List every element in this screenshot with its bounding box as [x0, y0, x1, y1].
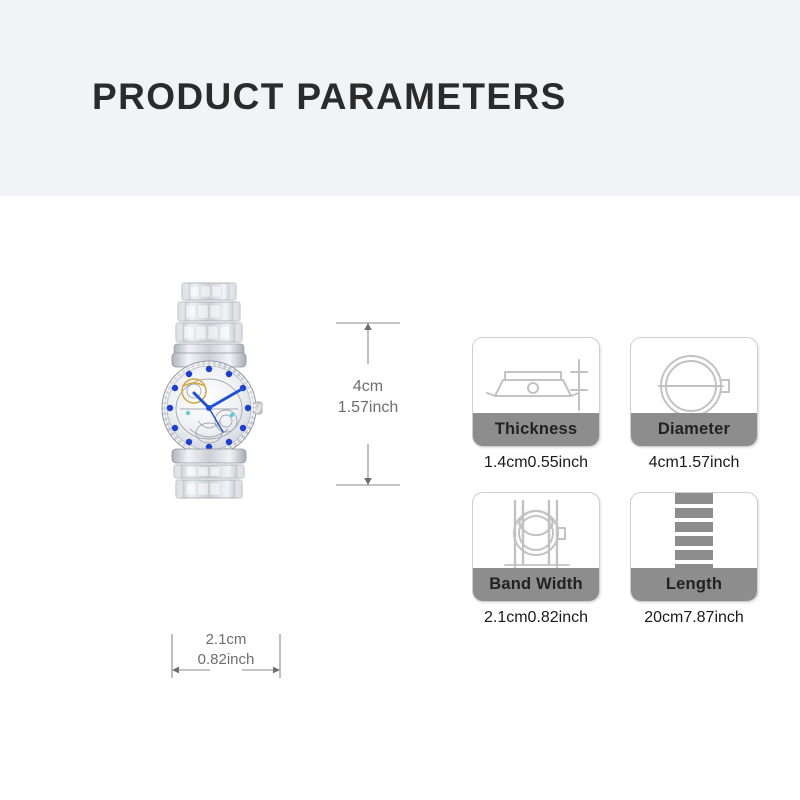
spec-cell-diameter: Diameter 4cm1.57inch — [630, 337, 758, 472]
case-height-inch: 1.57inch — [312, 397, 424, 418]
page-title: PRODUCT PARAMETERS — [92, 76, 567, 118]
spec-caption-band-width: 2.1cm0.82inch — [472, 609, 600, 627]
spec-label-band-width: Band Width — [473, 568, 599, 601]
spec-label-length: Length — [631, 568, 757, 601]
case-height-cm: 4cm — [312, 376, 424, 397]
case-height-label: 4cm 1.57inch — [312, 376, 424, 418]
spec-label-thickness: Thickness — [473, 413, 599, 446]
spec-card-band-width[interactable]: Band Width — [472, 492, 600, 602]
spec-cell-thickness: Thickness 1.4cm0.55inch — [472, 337, 600, 472]
spec-card-length[interactable]: Length — [630, 492, 758, 602]
band-width-inch: 0.82inch — [160, 650, 292, 670]
spec-label-diameter: Diameter — [631, 413, 757, 446]
content-area: 4cm 1.57inch 2.1cm 0.82inch — [0, 196, 800, 800]
spec-card-thickness[interactable]: Thickness — [472, 337, 600, 447]
band-width-cm: 2.1cm — [160, 630, 292, 650]
spec-card-diameter[interactable]: Diameter — [630, 337, 758, 447]
spec-caption-thickness: 1.4cm0.55inch — [472, 454, 600, 472]
band-width-label: 2.1cm 0.82inch — [160, 630, 292, 670]
spec-cell-length: Length 20cm7.87inch — [630, 492, 758, 627]
bracelet-upper — [174, 283, 244, 357]
spec-cell-band-width: Band Width 2.1cm0.82inch — [472, 492, 600, 627]
skeleton-wristwatch-photo — [150, 281, 268, 499]
bracelet-lower — [172, 449, 246, 498]
spec-caption-length: 20cm7.87inch — [630, 609, 758, 627]
spec-card-grid: Thickness 1.4cm0.55inch — [472, 337, 768, 627]
spec-caption-diameter: 4cm1.57inch — [630, 454, 758, 472]
